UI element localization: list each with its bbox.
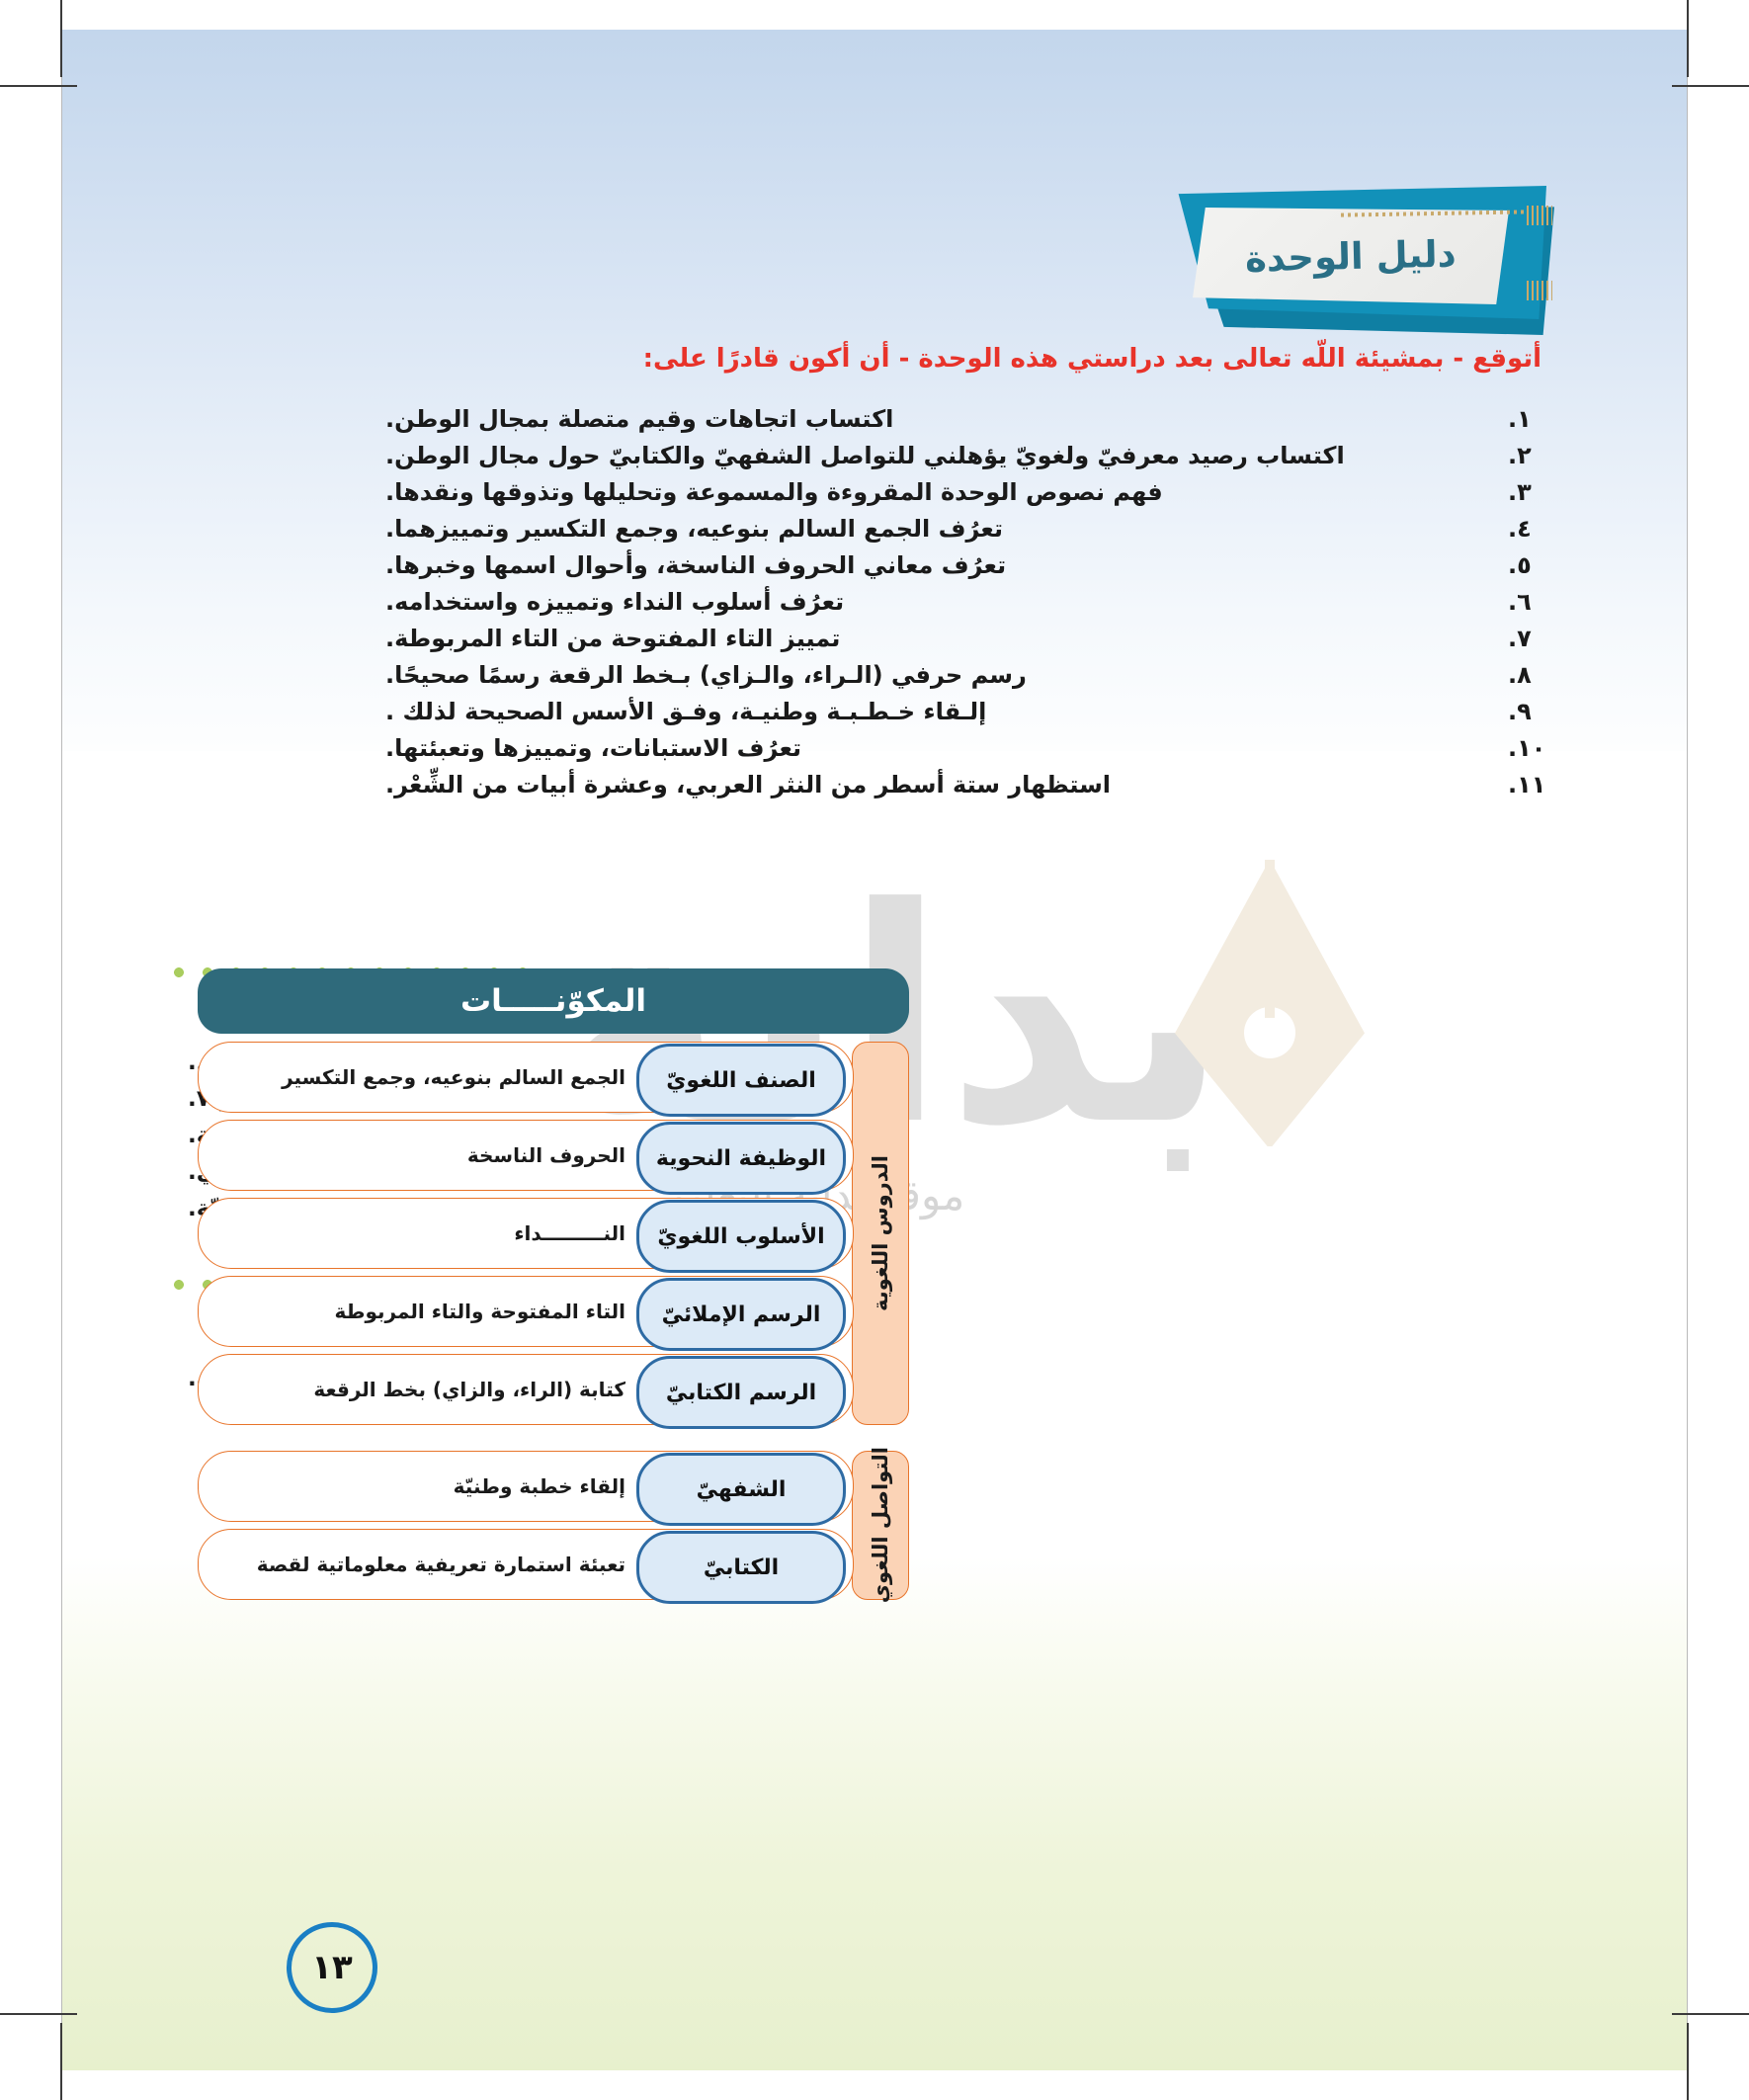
component-description-text: كتابة (الراء، والزاي) بخط الرقعة bbox=[313, 1378, 625, 1401]
objective-number: ١. bbox=[1508, 405, 1551, 433]
component-label-pill: الرسم الإملائيّ bbox=[636, 1278, 846, 1351]
component-label-pill: الكتابيّ bbox=[636, 1531, 846, 1604]
component-row: كتابة (الراء، والزاي) بخط الرقعة الرسم ا… bbox=[198, 1354, 881, 1425]
crop-mark-top-right-horizontal bbox=[1672, 85, 1749, 87]
page-frame-left bbox=[61, 30, 62, 2070]
objective-item: ٤. تعرُف الجمع السالم بنوعيه، وجمع التكس… bbox=[385, 515, 1551, 543]
objective-text: تعرُف معاني الحروف الناسخة، وأحوال اسمها… bbox=[385, 551, 1490, 579]
crop-mark-bottom-left-horizontal bbox=[0, 2013, 77, 2015]
objective-number: ١١. bbox=[1508, 771, 1551, 798]
objective-item: ١٠. تعرُف الاستبانات، وتمييزها وتعبئتها. bbox=[385, 734, 1551, 762]
objective-number: ٣. bbox=[1508, 478, 1551, 506]
component-row: الجمع السالم بنوعيه، وجمع التكسير الصنف … bbox=[198, 1042, 881, 1113]
group-rows: الجمع السالم بنوعيه، وجمع التكسير الصنف … bbox=[198, 1042, 909, 1425]
components-table-header: المكوّنـــــات bbox=[198, 968, 909, 1034]
objective-item: ٨. رسم حرفي (الـراء، والـزاي) بـخط الرقع… bbox=[385, 661, 1551, 689]
component-description-text: الحروف الناسخة bbox=[467, 1143, 625, 1167]
objective-item: ٥. تعرُف معاني الحروف الناسخة، وأحوال اس… bbox=[385, 551, 1551, 579]
objective-item: ٧. تمييز التاء المفتوحة من التاء المربوط… bbox=[385, 625, 1551, 652]
component-row: النـــــــــداء الأسلوب اللغويّ bbox=[198, 1198, 881, 1269]
objective-item: ٣. فهم نصوص الوحدة المقروءة والمسموعة وت… bbox=[385, 478, 1551, 506]
objective-item: ٩. إلـقاء خـطـبـة وطنيـة، وفـق الأسس الص… bbox=[385, 698, 1551, 725]
component-label-pill: الرسم الكتابيّ bbox=[636, 1356, 846, 1429]
objectives-list: ١. اكتساب اتجاهات وقيم متصلة بمجال الوطن… bbox=[385, 405, 1551, 807]
objective-number: ٨. bbox=[1508, 661, 1551, 689]
component-label-pill: الوظيفة النحوية bbox=[636, 1122, 846, 1195]
ribbon-tick-bottom bbox=[1527, 281, 1552, 300]
objective-text: استظهار ستة أسطر من النثر العربي، وعشرة … bbox=[385, 771, 1490, 798]
ribbon-title-text: دليل الوحدة bbox=[1245, 232, 1457, 280]
component-row: إلقاء خطبة وطنيّة الشفهيّ bbox=[198, 1451, 881, 1522]
page-number-badge: ١٣ bbox=[287, 1922, 377, 2013]
unit-guide-ribbon: دليل الوحدة bbox=[1171, 186, 1546, 319]
page-frame-right bbox=[1687, 30, 1688, 2070]
objective-text: تعرُف أسلوب النداء وتمييزه واستخدامه. bbox=[385, 588, 1490, 616]
objective-text: تعرُف الاستبانات، وتمييزها وتعبئتها. bbox=[385, 734, 1490, 762]
component-label-pill: الشفهيّ bbox=[636, 1453, 846, 1526]
component-group-language-lessons: الدروس اللغوية الجمع السالم بنوعيه، وجمع… bbox=[198, 1042, 909, 1425]
group-rows: إلقاء خطبة وطنيّة الشفهيّ تعبئة استمارة … bbox=[198, 1451, 909, 1600]
objective-number: ٤. bbox=[1508, 515, 1551, 543]
objective-item: ١١. استظهار ستة أسطر من النثر العربي، وع… bbox=[385, 771, 1551, 798]
objectives-intro: أتوقع - بمشيئة اللّه تعالى بعد دراستي هذ… bbox=[435, 344, 1541, 374]
crop-mark-top-left-vertical bbox=[60, 0, 62, 77]
component-row: تعبئة استمارة تعريفية معلوماتية لقصة الك… bbox=[198, 1529, 881, 1600]
objective-number: ٩. bbox=[1508, 698, 1551, 725]
objective-number: ٦. bbox=[1508, 588, 1551, 616]
objective-number: ٧. bbox=[1508, 625, 1551, 652]
components-table: المكوّنـــــات الدروس اللغوية الجمع السا… bbox=[198, 968, 909, 1607]
component-description-text: تعبئة استمارة تعريفية معلوماتية لقصة bbox=[257, 1553, 625, 1576]
ribbon-card: دليل الوحدة bbox=[1193, 208, 1509, 304]
component-row: الحروف الناسخة الوظيفة النحوية bbox=[198, 1120, 881, 1191]
objective-item: ٢. اكتساب رصيد معرفيّ ولغويّ يؤهلني للتو… bbox=[385, 442, 1551, 469]
objective-text: تمييز التاء المفتوحة من التاء المربوطة. bbox=[385, 625, 1490, 652]
components-table-body: الدروس اللغوية الجمع السالم بنوعيه، وجمع… bbox=[198, 1042, 909, 1600]
objective-number: ٥. bbox=[1508, 551, 1551, 579]
crop-mark-top-left-horizontal bbox=[0, 85, 77, 87]
component-group-language-communication: التواصل اللغوي إلقاء خطبة وطنيّة الشفهيّ… bbox=[198, 1451, 909, 1600]
page-number-text: ١٣ bbox=[311, 1948, 353, 1987]
component-description-text: إلقاء خطبة وطنيّة bbox=[454, 1474, 625, 1498]
component-row: التاء المفتوحة والتاء المربوطة الرسم الإ… bbox=[198, 1276, 881, 1347]
crop-mark-bottom-right-vertical bbox=[1687, 2023, 1689, 2100]
component-label-pill: الصنف اللغويّ bbox=[636, 1044, 846, 1117]
crop-mark-bottom-left-vertical bbox=[60, 2023, 62, 2100]
objective-text: اكتساب رصيد معرفيّ ولغويّ يؤهلني للتواصل… bbox=[385, 442, 1490, 469]
crop-mark-top-right-vertical bbox=[1687, 0, 1689, 77]
component-label-pill: الأسلوب اللغويّ bbox=[636, 1200, 846, 1273]
objective-item: ٦. تعرُف أسلوب النداء وتمييزه واستخدامه. bbox=[385, 588, 1551, 616]
component-description-text: الجمع السالم بنوعيه، وجمع التكسير bbox=[282, 1065, 625, 1089]
ribbon-tick-top bbox=[1527, 206, 1552, 225]
objective-text: فهم نصوص الوحدة المقروءة والمسموعة وتحلي… bbox=[385, 478, 1490, 506]
objective-number: ٢. bbox=[1508, 442, 1551, 469]
objective-text: رسم حرفي (الـراء، والـزاي) بـخط الرقعة ر… bbox=[385, 661, 1490, 689]
component-description-text: التاء المفتوحة والتاء المربوطة bbox=[335, 1300, 626, 1323]
objective-text: تعرُف الجمع السالم بنوعيه، وجمع التكسير … bbox=[385, 515, 1490, 543]
component-description-text: النـــــــــداء bbox=[514, 1221, 625, 1245]
objective-item: ١. اكتساب اتجاهات وقيم متصلة بمجال الوطن… bbox=[385, 405, 1551, 433]
objective-text: اكتساب اتجاهات وقيم متصلة بمجال الوطن. bbox=[385, 405, 1490, 433]
textbook-page: بداية موقع بداية التعليمي beadaya.com دل… bbox=[0, 0, 1749, 2100]
objective-text: إلـقاء خـطـبـة وطنيـة، وفـق الأسس الصحيح… bbox=[385, 698, 1490, 725]
crop-mark-bottom-right-horizontal bbox=[1672, 2013, 1749, 2015]
objective-number: ١٠. bbox=[1508, 734, 1551, 762]
